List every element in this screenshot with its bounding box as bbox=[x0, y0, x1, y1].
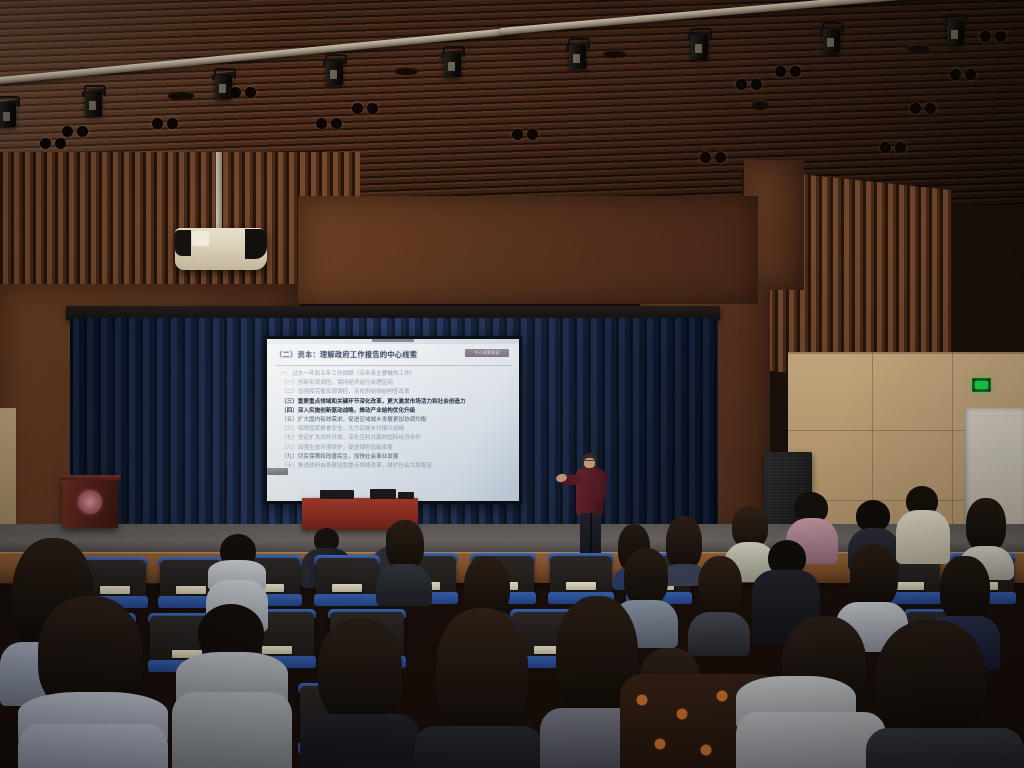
auditorium-chair[interactable] bbox=[316, 558, 378, 598]
downlight-icon bbox=[980, 31, 1006, 42]
slide-line-highlight: （四）深入实施创新驱动战略，推动产业结构优化升级 bbox=[281, 407, 509, 416]
projector-mount-pole bbox=[216, 152, 222, 230]
slide-line: （九）切实保障和改善民生，加快社会事业发展 bbox=[281, 453, 509, 462]
torso bbox=[18, 724, 168, 768]
slide-line: （七）坚定扩大对外开放，深化互利共赢的国际经济合作 bbox=[281, 434, 509, 443]
slide-line: （二）加强和完善宏观调控，深化供给侧结构性改革 bbox=[281, 388, 509, 397]
hair bbox=[698, 556, 742, 616]
presenter bbox=[572, 453, 612, 565]
downlight-icon bbox=[316, 118, 342, 129]
torso bbox=[414, 726, 544, 768]
tile-seam bbox=[952, 352, 953, 552]
hair bbox=[386, 520, 424, 570]
hair bbox=[940, 556, 990, 622]
ceiling-vent bbox=[603, 50, 626, 58]
downlight-icon bbox=[880, 142, 906, 153]
slide-title-badge: 中心线索解读 bbox=[465, 349, 509, 357]
downlight-icon bbox=[910, 103, 936, 114]
stage-light-icon bbox=[441, 46, 463, 80]
hair bbox=[966, 498, 1006, 552]
hair bbox=[850, 544, 898, 608]
slide-line: （五）扩大国内有效需求，促进区域城乡发展更加协调均衡 bbox=[281, 416, 509, 425]
hair bbox=[318, 618, 402, 724]
stage-light-icon bbox=[323, 54, 345, 88]
slide-outline-list: 一、过去一年和五年工作回顾（五年来主要做的工作） （一）创新宏观调控，保持经济运… bbox=[281, 370, 509, 471]
ceiling-vent bbox=[395, 67, 418, 75]
audience-member bbox=[172, 604, 292, 768]
torso bbox=[300, 714, 420, 768]
auditorium-chair[interactable] bbox=[550, 556, 612, 596]
slide-line: （六）保障国家粮食安全，大力实施乡村振兴战略 bbox=[281, 425, 509, 434]
torso bbox=[866, 728, 1024, 768]
audience-member bbox=[736, 616, 886, 768]
stage-light-icon bbox=[820, 22, 842, 56]
av-equipment bbox=[370, 489, 396, 499]
stage-light-icon bbox=[0, 96, 18, 130]
exit-sign-icon bbox=[972, 378, 991, 392]
downlight-icon bbox=[352, 103, 378, 114]
slide-line: （十）推进政府自身建设和重点领域改革，维护社会大局稳定 bbox=[281, 462, 509, 471]
slide-title: （二）资本：理解政府工作报告的中心线索 bbox=[275, 350, 417, 360]
downlight-icon bbox=[512, 129, 538, 140]
ceiling-vent bbox=[168, 91, 194, 100]
stage-light-icon bbox=[688, 28, 710, 62]
torso bbox=[376, 564, 432, 606]
downlight-icon bbox=[950, 69, 976, 80]
audience-member bbox=[376, 520, 432, 602]
downlight-icon bbox=[40, 138, 66, 149]
ceiling-projector bbox=[175, 228, 267, 270]
slide-title-row: （二）资本：理解政府工作报告的中心线索 中心线索解读 bbox=[275, 347, 511, 362]
hair bbox=[436, 608, 528, 732]
ceiling-vent bbox=[752, 100, 769, 110]
presenter-arm-right bbox=[595, 471, 609, 502]
slide-line-highlight: （三）重要重点领域和关键环节深化改革，更大激发市场活力和社会创造力 bbox=[281, 398, 509, 407]
slide-line: （八）加强生态环境保护，促进绿色低碳发展 bbox=[281, 444, 509, 453]
stage-light-icon bbox=[944, 14, 966, 48]
downlight-icon bbox=[230, 87, 256, 98]
av-laptop bbox=[398, 492, 414, 499]
podium-top-surface bbox=[59, 475, 121, 480]
av-equipment bbox=[320, 490, 354, 499]
slide-title-rule bbox=[275, 365, 511, 366]
lectern-podium bbox=[62, 478, 118, 528]
slide-side-badge bbox=[267, 468, 288, 475]
audience-member bbox=[18, 596, 168, 768]
torso bbox=[736, 712, 886, 768]
wall-panel-center-top bbox=[298, 196, 758, 304]
glasses-icon bbox=[584, 460, 595, 464]
audience-member bbox=[866, 620, 1024, 768]
slide-top-tab bbox=[372, 339, 414, 342]
tile-seam bbox=[788, 352, 1024, 354]
stage-light-icon bbox=[82, 85, 104, 119]
university-seal-emblem bbox=[78, 490, 102, 514]
downlight-icon bbox=[775, 66, 801, 77]
downlight-icon bbox=[736, 79, 762, 90]
slide-title-badge-label: 中心线索解读 bbox=[474, 350, 499, 356]
presenter-legs bbox=[580, 513, 601, 558]
downlight-icon bbox=[152, 118, 178, 129]
lecture-hall-photo: （二）资本：理解政府工作报告的中心线索 中心线索解读 一、过去一年和五年工作回顾… bbox=[0, 0, 1024, 768]
audience-member bbox=[300, 618, 420, 768]
torso bbox=[172, 692, 292, 768]
hair bbox=[876, 620, 986, 740]
slide-line: 一、过去一年和五年工作回顾（五年来主要做的工作） bbox=[281, 370, 509, 379]
downlight-icon bbox=[700, 152, 726, 163]
projection-screen: （二）资本：理解政府工作报告的中心线索 中心线索解读 一、过去一年和五年工作回顾… bbox=[264, 336, 522, 504]
presentation-slide: （二）资本：理解政府工作报告的中心线索 中心线索解读 一、过去一年和五年工作回顾… bbox=[267, 339, 519, 501]
audience-member bbox=[414, 608, 544, 768]
ceiling-vent bbox=[908, 44, 930, 52]
downlight-icon bbox=[62, 126, 88, 137]
stage-light-icon bbox=[566, 38, 588, 72]
slide-line: （一）创新宏观调控，保持经济运行合理区间 bbox=[281, 379, 509, 388]
